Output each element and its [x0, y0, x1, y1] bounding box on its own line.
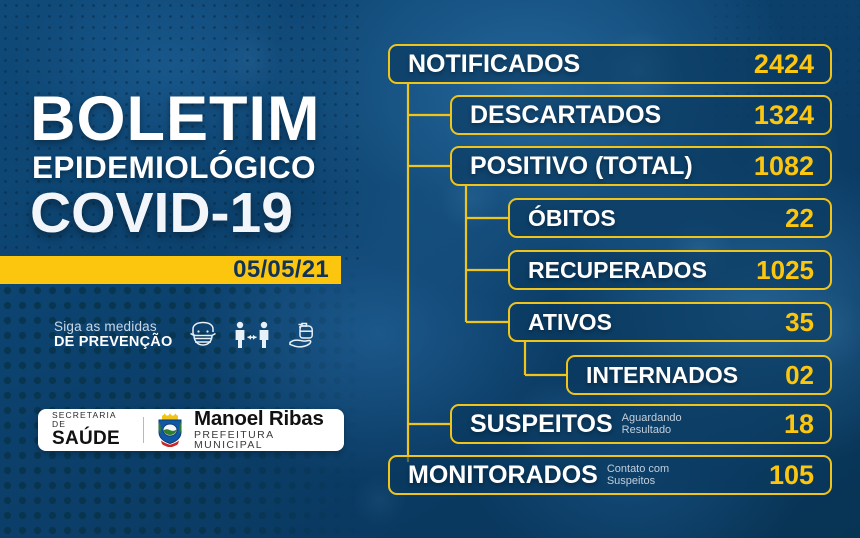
row-label: NOTIFICADOS — [408, 52, 580, 77]
row-label: DESCARTADOS — [470, 103, 661, 128]
row-ativos[interactable]: ATIVOS 35 — [508, 302, 832, 342]
statistics-tree: NOTIFICADOS 2424 DESCARTADOS 1324 POSITI… — [0, 0, 860, 538]
row-value: 1082 — [754, 153, 814, 180]
row-positivo-total[interactable]: POSITIVO (TOTAL) 1082 — [450, 146, 832, 186]
row-value: 02 — [785, 362, 814, 388]
row-sublabel: AguardandoResultado — [622, 412, 682, 437]
row-value: 35 — [785, 309, 814, 335]
row-suspeitos[interactable]: SUSPEITOS AguardandoResultado 18 — [450, 404, 832, 444]
row-obitos[interactable]: ÓBITOS 22 — [508, 198, 832, 238]
row-label: MONITORADOS — [408, 463, 598, 488]
row-label: SUSPEITOS — [470, 412, 613, 437]
row-notificados[interactable]: NOTIFICADOS 2424 — [388, 44, 832, 84]
row-value: 105 — [769, 462, 814, 489]
row-descartados[interactable]: DESCARTADOS 1324 — [450, 95, 832, 135]
row-value: 2424 — [754, 51, 814, 78]
row-label: INTERNADOS — [586, 364, 738, 387]
row-label: POSITIVO (TOTAL) — [470, 154, 693, 179]
row-monitorados[interactable]: MONITORADOS Contato comSuspeitos 105 — [388, 455, 832, 495]
row-value: 22 — [785, 205, 814, 231]
row-value: 1324 — [754, 102, 814, 129]
row-internados[interactable]: INTERNADOS 02 — [566, 355, 832, 395]
row-label: ATIVOS — [528, 311, 612, 334]
row-recuperados[interactable]: RECUPERADOS 1025 — [508, 250, 832, 290]
infographic-canvas: BOLETIM EPIDEMIOLÓGICO COVID-19 05/05/21… — [0, 0, 860, 538]
row-value: 18 — [784, 411, 814, 438]
row-value: 1025 — [756, 257, 814, 283]
row-label: ÓBITOS — [528, 207, 616, 230]
row-sublabel: Contato comSuspeitos — [607, 463, 669, 488]
row-label: RECUPERADOS — [528, 259, 707, 282]
